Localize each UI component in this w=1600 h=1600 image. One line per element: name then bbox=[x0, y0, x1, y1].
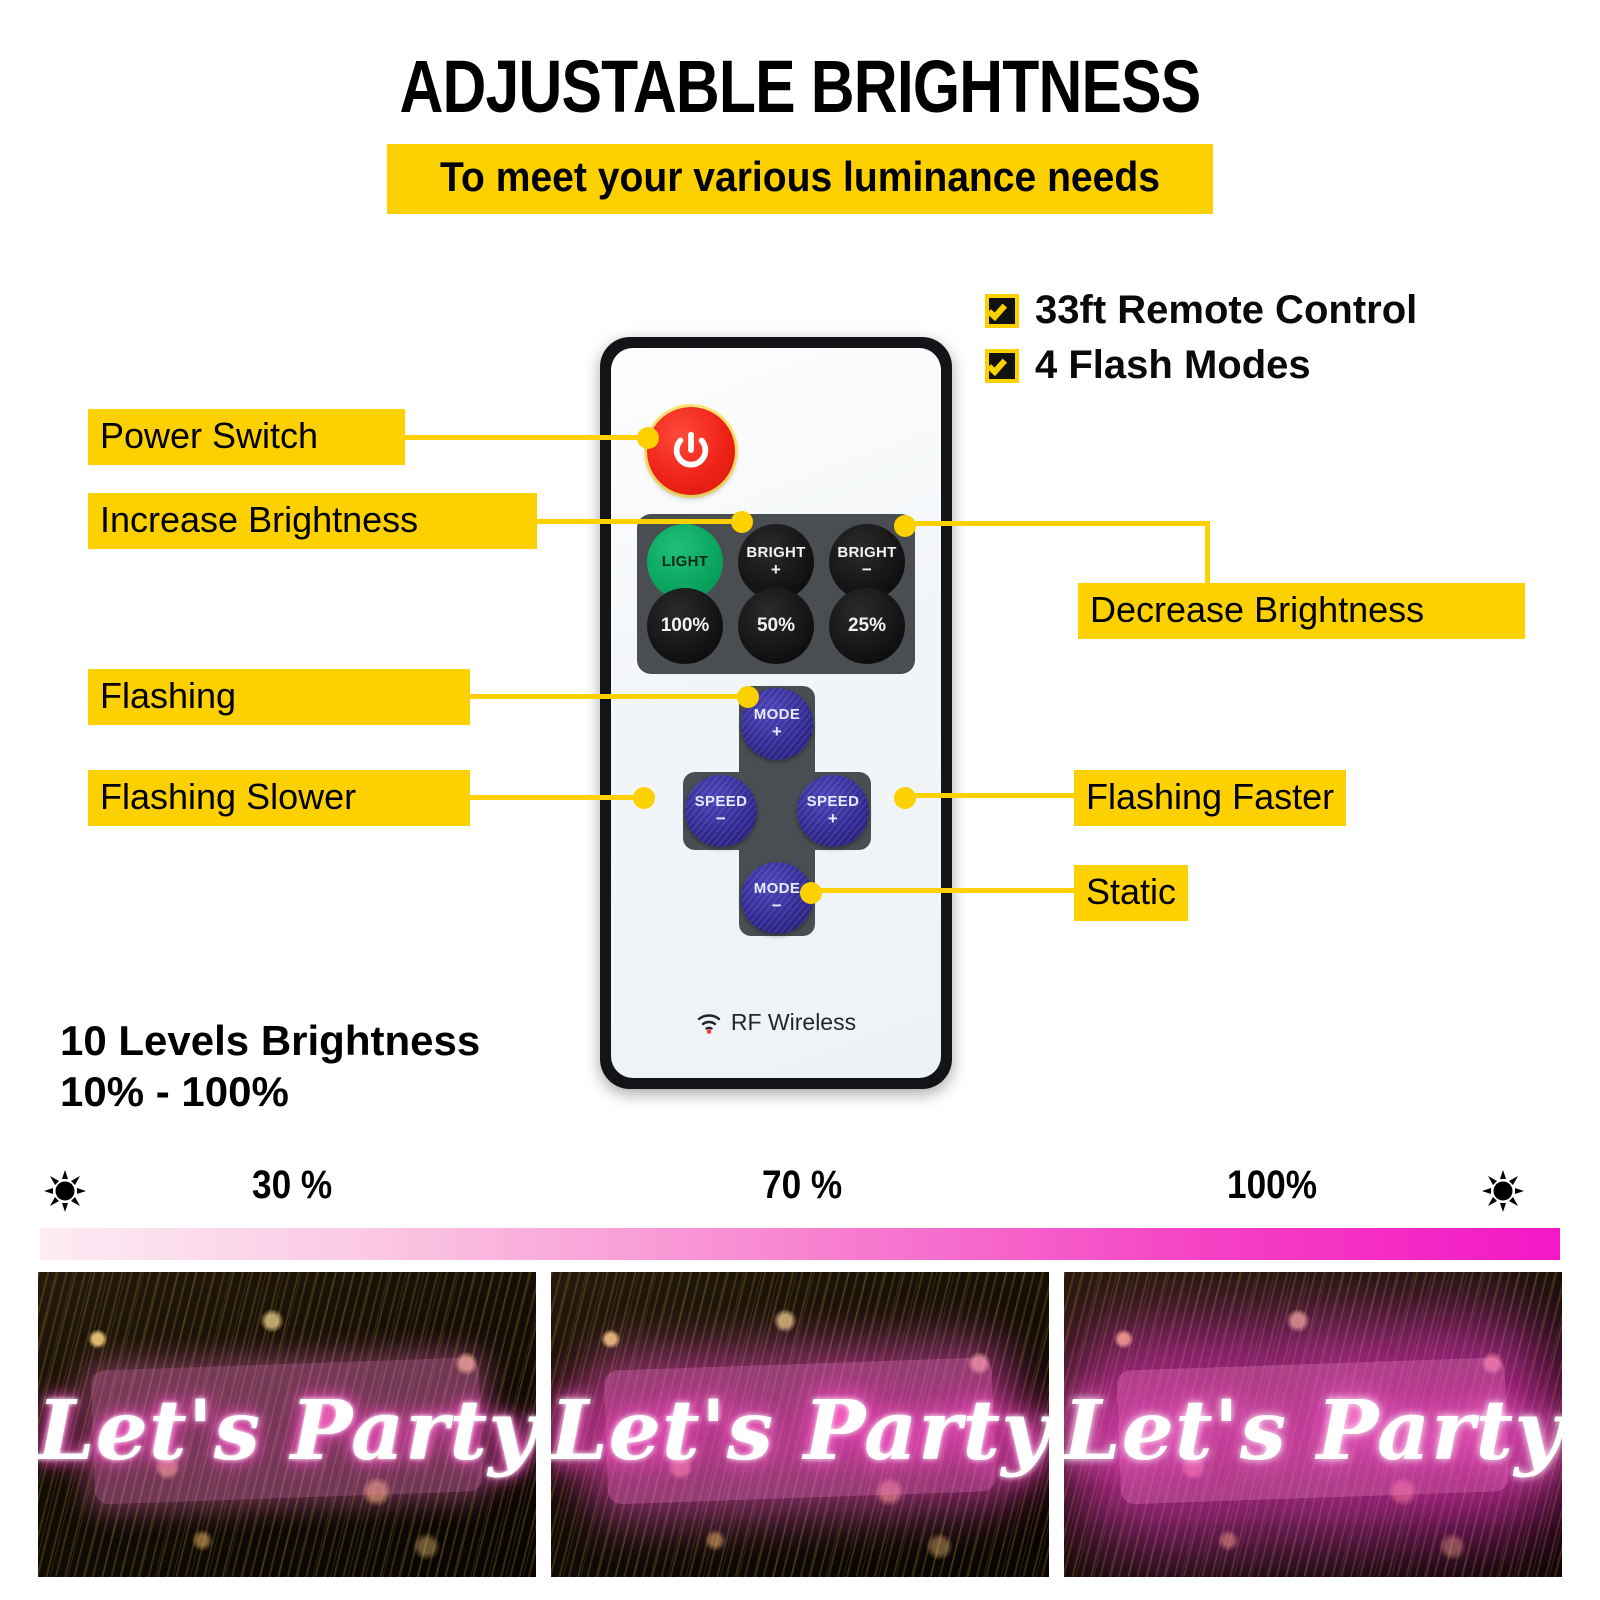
callout-dot-increase-brightness bbox=[731, 511, 753, 533]
callout-line-power-switch bbox=[405, 435, 647, 440]
list-item: 4 Flash Modes bbox=[985, 343, 1417, 388]
preset-50-label: 50% bbox=[757, 616, 795, 635]
brightness-scale-row: 30 % 70 % 100% bbox=[0, 1163, 1600, 1225]
infographic-root: ADJUSTABLE BRIGHTNESS To meet your vario… bbox=[0, 0, 1600, 1600]
mode-down-sign: − bbox=[772, 897, 782, 914]
mode-up-sign: + bbox=[772, 723, 782, 740]
callout-flashing-slower: Flashing Slower bbox=[88, 770, 470, 826]
neon-sign-gallery: Let's Party Let's Party Let's Party bbox=[38, 1272, 1562, 1577]
neon-photo-30: Let's Party bbox=[38, 1272, 536, 1577]
speed-down-button[interactable]: SPEED − bbox=[685, 775, 757, 847]
callout-dot-power-switch bbox=[637, 427, 659, 449]
callout-dot-decrease-brightness bbox=[894, 515, 916, 537]
page-title: ADJUSTABLE BRIGHTNESS bbox=[144, 44, 1456, 129]
callout-dot-flashing bbox=[737, 686, 759, 708]
light-button-label: LIGHT bbox=[662, 554, 709, 569]
callout-dot-static bbox=[800, 882, 822, 904]
speed-up-label: SPEED bbox=[807, 794, 860, 809]
levels-line-1: 10 Levels Brightness bbox=[60, 1015, 480, 1066]
preset-25-label: 25% bbox=[848, 616, 886, 635]
remote-control: LIGHT BRIGHT + BRIGHT − 100% 50% 25% bbox=[600, 337, 952, 1089]
mode-down-label: MODE bbox=[754, 881, 801, 896]
neon-photo-70: Let's Party bbox=[551, 1272, 1049, 1577]
levels-text-block: 10 Levels Brightness 10% - 100% bbox=[60, 1015, 480, 1117]
checkbox-checked-icon bbox=[985, 349, 1019, 383]
scale-label-100: 100% bbox=[1227, 1163, 1317, 1208]
neon-photo-100: Let's Party bbox=[1064, 1272, 1562, 1577]
checkbox-checked-icon bbox=[985, 294, 1019, 328]
dpad: MODE + SPEED − SPEED + MODE − bbox=[683, 686, 871, 936]
callout-line-static bbox=[808, 888, 1074, 893]
bright-up-label: BRIGHT bbox=[746, 545, 805, 560]
neon-sign-text: Let's Party bbox=[551, 1383, 1049, 1479]
speed-up-sign: + bbox=[828, 810, 838, 827]
rf-wireless-footer: RF Wireless bbox=[611, 1009, 941, 1036]
neon-sign-text: Let's Party bbox=[1064, 1383, 1562, 1479]
callout-flashing: Flashing bbox=[88, 669, 470, 725]
page-subtitle: To meet your various luminance needs bbox=[387, 144, 1213, 214]
power-button[interactable] bbox=[647, 407, 735, 495]
callout-line-decrease-brightness-v bbox=[1205, 521, 1210, 585]
bright-down-label: BRIGHT bbox=[837, 545, 896, 560]
callout-static: Static bbox=[1074, 865, 1188, 921]
preset-100-label: 100% bbox=[661, 616, 710, 635]
keypad-panel: LIGHT BRIGHT + BRIGHT − 100% 50% 25% bbox=[637, 514, 915, 674]
callout-line-increase-brightness bbox=[537, 519, 741, 524]
callout-dot-flashing-faster bbox=[894, 787, 916, 809]
callout-power-switch: Power Switch bbox=[88, 409, 405, 465]
power-icon bbox=[668, 428, 714, 474]
page-subtitle-text: To meet your various luminance needs bbox=[440, 153, 1160, 201]
checklist-label: 4 Flash Modes bbox=[1035, 343, 1311, 388]
preset-25-button[interactable]: 25% bbox=[829, 588, 905, 664]
speed-down-label: SPEED bbox=[695, 794, 748, 809]
mode-up-label: MODE bbox=[754, 707, 801, 722]
remote-face: LIGHT BRIGHT + BRIGHT − 100% 50% 25% bbox=[611, 348, 941, 1078]
callout-line-flashing bbox=[470, 694, 746, 699]
speed-up-button[interactable]: SPEED + bbox=[797, 775, 869, 847]
bright-down-sign: − bbox=[862, 561, 872, 578]
sun-icon bbox=[43, 1169, 87, 1213]
preset-100-button[interactable]: 100% bbox=[647, 588, 723, 664]
callout-dot-flashing-slower bbox=[633, 787, 655, 809]
callout-line-decrease-brightness-h bbox=[902, 521, 1210, 526]
feature-checklist: 33ft Remote Control 4 Flash Modes bbox=[985, 288, 1417, 398]
bright-up-sign: + bbox=[771, 561, 781, 578]
rf-wireless-label: RF Wireless bbox=[731, 1009, 856, 1036]
callout-increase-brightness: Increase Brightness bbox=[88, 493, 537, 549]
neon-sign-text: Let's Party bbox=[38, 1383, 536, 1479]
brightness-gradient-bar bbox=[40, 1228, 1560, 1260]
scale-label-70: 70 % bbox=[762, 1163, 842, 1208]
levels-line-2: 10% - 100% bbox=[60, 1066, 480, 1117]
callout-decrease-brightness: Decrease Brightness bbox=[1078, 583, 1525, 639]
callout-line-flashing-faster bbox=[902, 793, 1074, 798]
preset-50-button[interactable]: 50% bbox=[738, 588, 814, 664]
callout-line-flashing-slower bbox=[470, 795, 642, 800]
wifi-icon bbox=[696, 1012, 722, 1034]
scale-label-30: 30 % bbox=[252, 1163, 332, 1208]
callout-flashing-faster: Flashing Faster bbox=[1074, 770, 1346, 826]
speed-down-sign: − bbox=[716, 810, 726, 827]
list-item: 33ft Remote Control bbox=[985, 288, 1417, 333]
sun-icon bbox=[1481, 1169, 1525, 1213]
checklist-label: 33ft Remote Control bbox=[1035, 288, 1417, 333]
